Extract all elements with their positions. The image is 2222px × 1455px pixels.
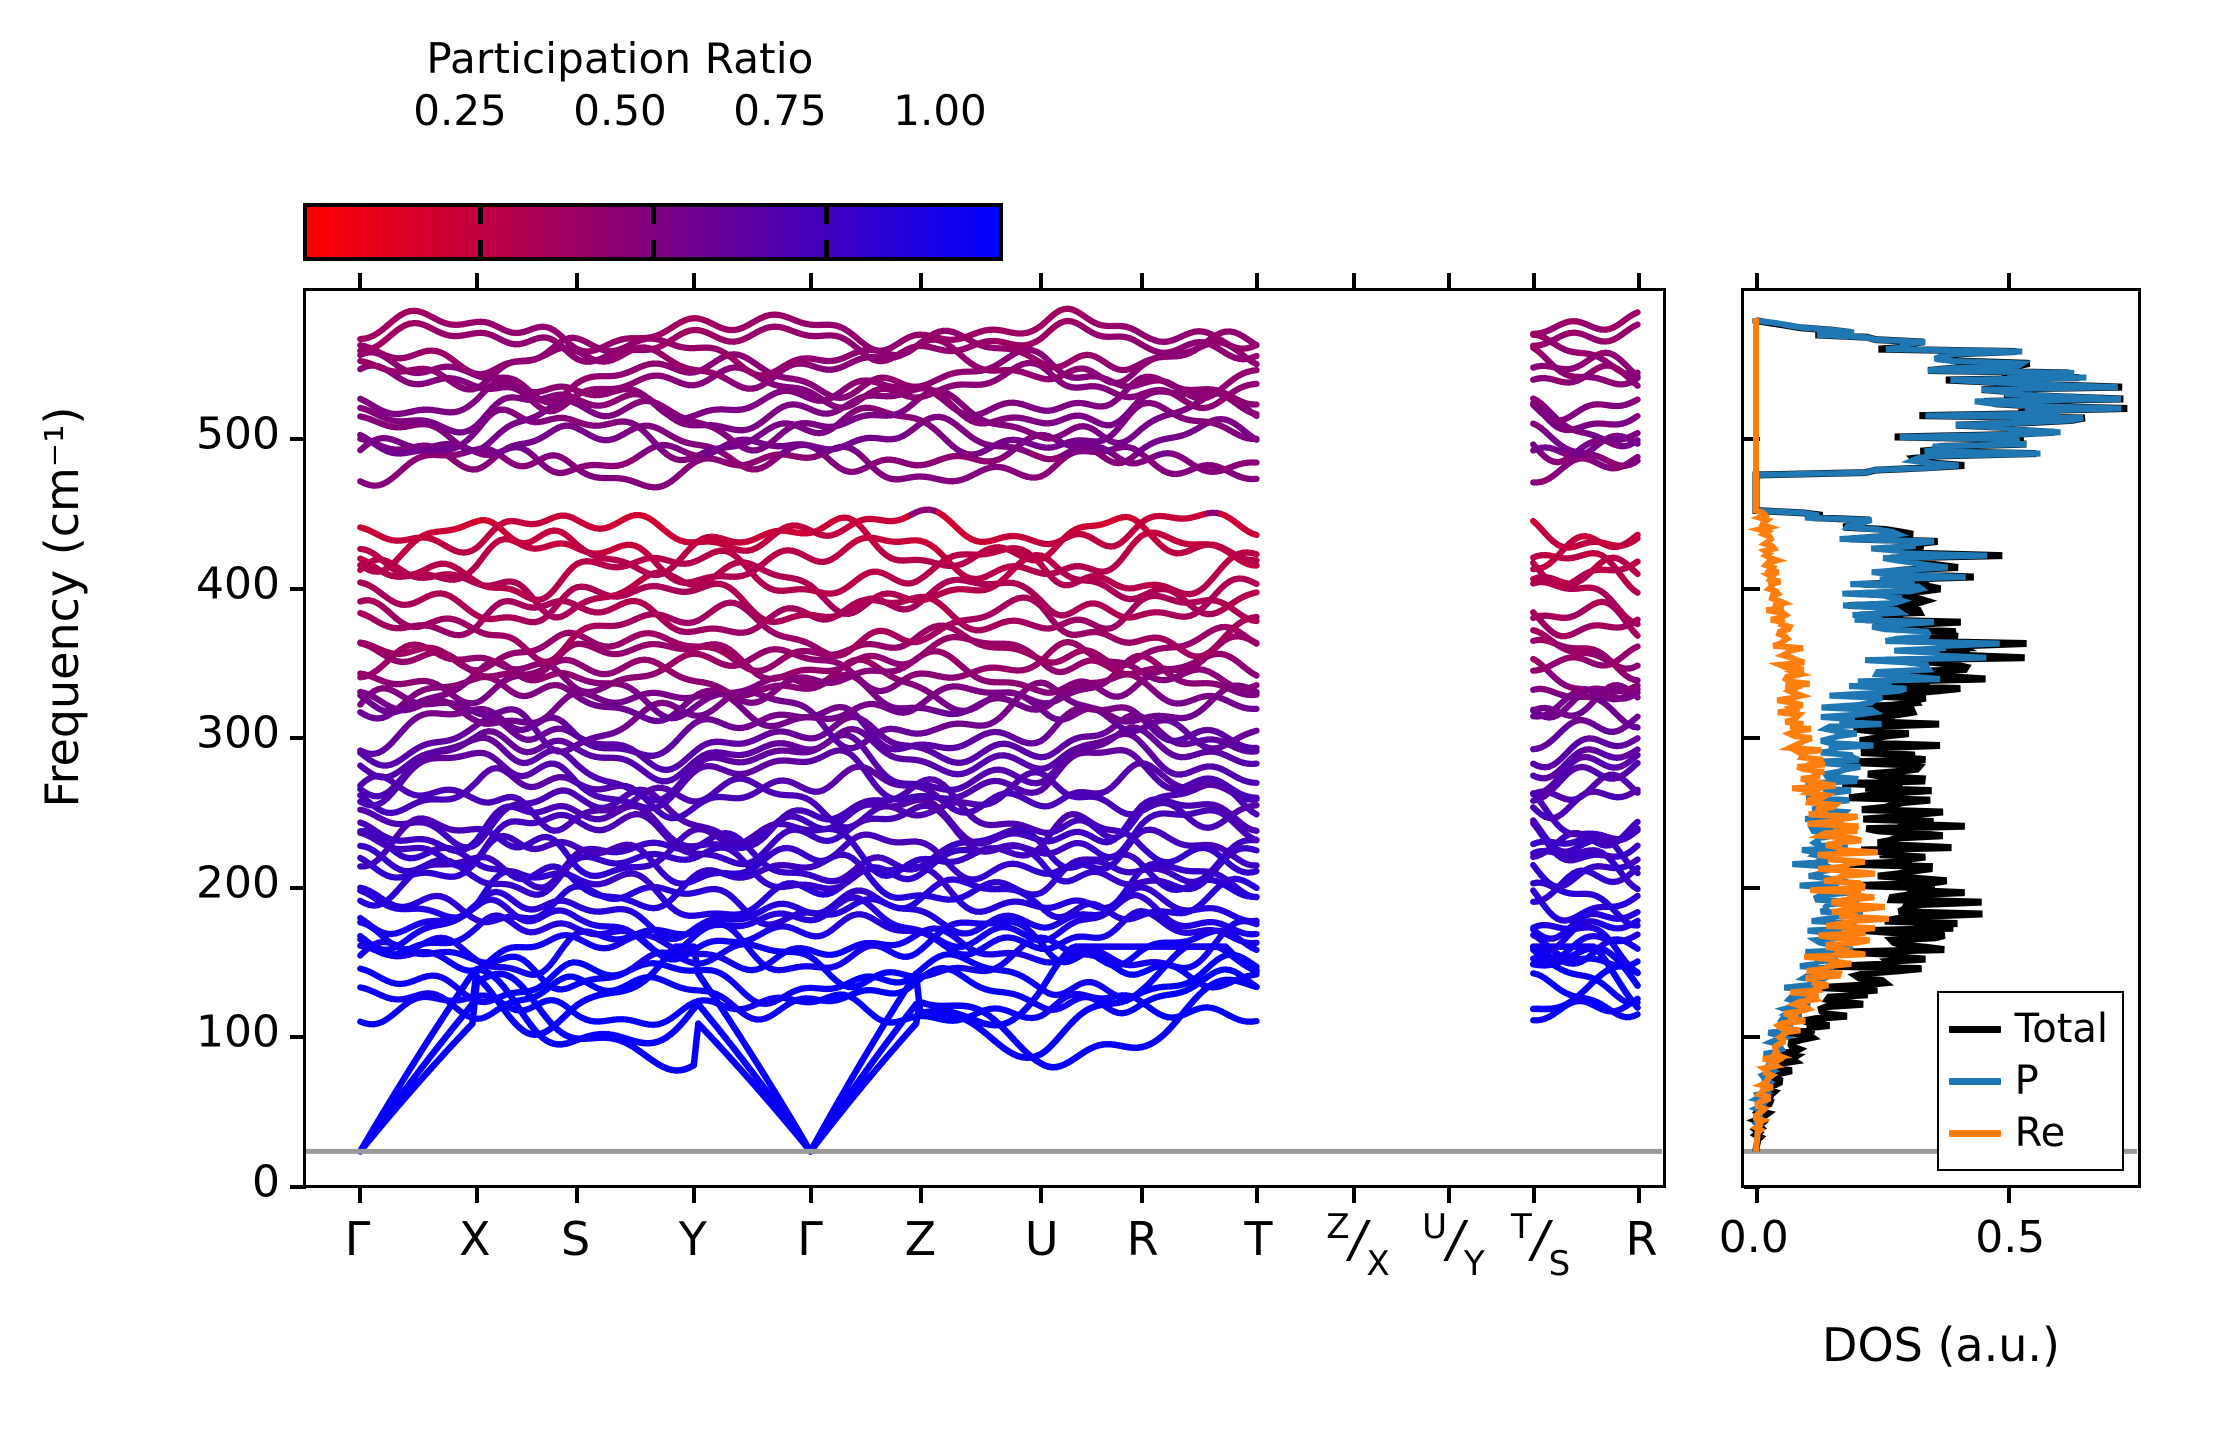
phonon-band-structure-figure: Participation Ratio 0.25 0.50 0.75 1.00 …	[0, 0, 2222, 1455]
legend-label-re: Re	[2015, 1113, 2066, 1153]
legend-item-total: Total	[1949, 1003, 2108, 1055]
dos-x-tick-0	[1755, 1185, 1759, 1203]
y-tick-label-200: 200	[196, 858, 280, 909]
x-tick-top-u	[1039, 273, 1043, 291]
band-dispersion-curves	[306, 291, 1662, 1184]
x-tick-gamma-2	[809, 1185, 813, 1203]
colorbar-tick-label-2: 0.75	[733, 86, 827, 135]
x-tick-t	[1255, 1185, 1259, 1203]
x-label-u: U	[1025, 1212, 1059, 1266]
x-label-z: Z	[905, 1212, 937, 1266]
x-tick-s	[575, 1185, 579, 1203]
x-label-r2: R	[1625, 1212, 1657, 1266]
colorbar-tick-labels: 0.25 0.50 0.75 1.00	[300, 86, 940, 132]
x-tick-y	[692, 1185, 696, 1203]
x-tick-top-zx	[1352, 273, 1356, 291]
x-label-gamma-2: Γ	[797, 1212, 823, 1266]
legend-swatch-total	[1949, 1026, 2001, 1033]
x-tick-top-r2	[1637, 273, 1641, 291]
colorbar-tick-top-1	[651, 207, 656, 224]
y-axis-tick-labels: 0 100 200 300 400 500	[120, 288, 280, 1188]
x-label-u-over-y: U/Y	[1422, 1212, 1485, 1273]
dos-axes: Total P Re	[1741, 288, 2141, 1188]
band-structure-axes	[303, 288, 1666, 1188]
x-label-t-over-s: T/S	[1511, 1212, 1570, 1273]
x-tick-top-gamma-1	[358, 273, 362, 291]
legend-swatch-p	[1949, 1078, 2001, 1085]
x-tick-top-t	[1255, 273, 1259, 291]
colorbar-tick-top-2	[824, 207, 829, 224]
x-label-z-over-x: Z/X	[1326, 1212, 1389, 1273]
dos-x-axis-tick-labels: 0.0 0.5	[1741, 1212, 2141, 1272]
colorbar-tick-top-0	[478, 207, 483, 224]
legend-item-re: Re	[1949, 1107, 2108, 1159]
x-label-t: T	[1244, 1212, 1272, 1266]
x-axis-tick-labels: Γ X S Y Γ Z U R T Z/X U/Y T/S R	[303, 1212, 1666, 1322]
colorbar-tick-label-0: 0.25	[413, 86, 507, 135]
x-tick-r	[1140, 1185, 1144, 1203]
dos-x-label-0: 0.0	[1719, 1212, 1789, 1263]
y-tick-label-100: 100	[196, 1007, 280, 1058]
legend-item-p: P	[1949, 1055, 2108, 1107]
colorbar-tick-bottom-0	[478, 240, 483, 257]
colorbar-gradient	[303, 203, 1003, 261]
x-tick-top-z	[919, 273, 923, 291]
legend-label-total: Total	[2015, 1009, 2108, 1049]
colorbar-tick-label-3: 1.00	[893, 86, 987, 135]
x-tick-top-uy	[1447, 273, 1451, 291]
legend-label-p: P	[2015, 1061, 2039, 1101]
colorbar-title: Participation Ratio	[300, 34, 940, 83]
y-tick-label-300: 300	[196, 708, 280, 759]
dos-x-tick-0.5	[2007, 1185, 2011, 1203]
dos-legend: Total P Re	[1937, 991, 2124, 1171]
x-tick-top-s	[575, 273, 579, 291]
y-tick-0	[290, 1185, 306, 1189]
band-curves-clip	[306, 291, 1663, 1185]
x-label-x: X	[459, 1212, 491, 1266]
x-tick-top-y	[692, 273, 696, 291]
colorbar-tick-bottom-1	[651, 240, 656, 257]
x-tick-gamma-1	[358, 1185, 362, 1203]
y-tick-400	[290, 587, 306, 591]
x-label-s: S	[561, 1212, 590, 1266]
dos-x-tick-top-0	[1755, 273, 1759, 291]
dos-x-label-0.5: 0.5	[1975, 1212, 2045, 1263]
x-tick-top-r	[1140, 273, 1144, 291]
x-tick-top-gamma-2	[809, 273, 813, 291]
x-tick-r2	[1637, 1185, 1641, 1203]
dos-x-tick-top-0.5	[2007, 273, 2011, 291]
x-label-gamma-1: Γ	[345, 1212, 371, 1266]
legend-swatch-re	[1949, 1130, 2001, 1137]
x-tick-u	[1039, 1185, 1043, 1203]
y-tick-label-0: 0	[252, 1157, 280, 1208]
y-tick-100	[290, 1035, 306, 1039]
x-label-r: R	[1127, 1212, 1159, 1266]
x-tick-top-x	[475, 273, 479, 291]
y-tick-300	[290, 736, 306, 740]
colorbar-tick-bottom-2	[824, 240, 829, 257]
y-tick-500	[290, 437, 306, 441]
x-tick-zx	[1352, 1185, 1356, 1203]
y-tick-200	[290, 886, 306, 890]
dos-x-axis-label: DOS (a.u.)	[1741, 1318, 2141, 1372]
x-tick-z	[919, 1185, 923, 1203]
y-tick-label-500: 500	[196, 409, 280, 460]
y-tick-label-400: 400	[196, 559, 280, 610]
y-axis-label: Frequency (cm⁻¹)	[35, 287, 89, 927]
colorbar-tick-label-1: 0.50	[573, 86, 667, 135]
x-tick-x	[475, 1185, 479, 1203]
x-label-y: Y	[679, 1212, 707, 1266]
x-tick-uy	[1447, 1185, 1451, 1203]
x-tick-ts	[1532, 1185, 1536, 1203]
x-tick-top-ts	[1532, 273, 1536, 291]
